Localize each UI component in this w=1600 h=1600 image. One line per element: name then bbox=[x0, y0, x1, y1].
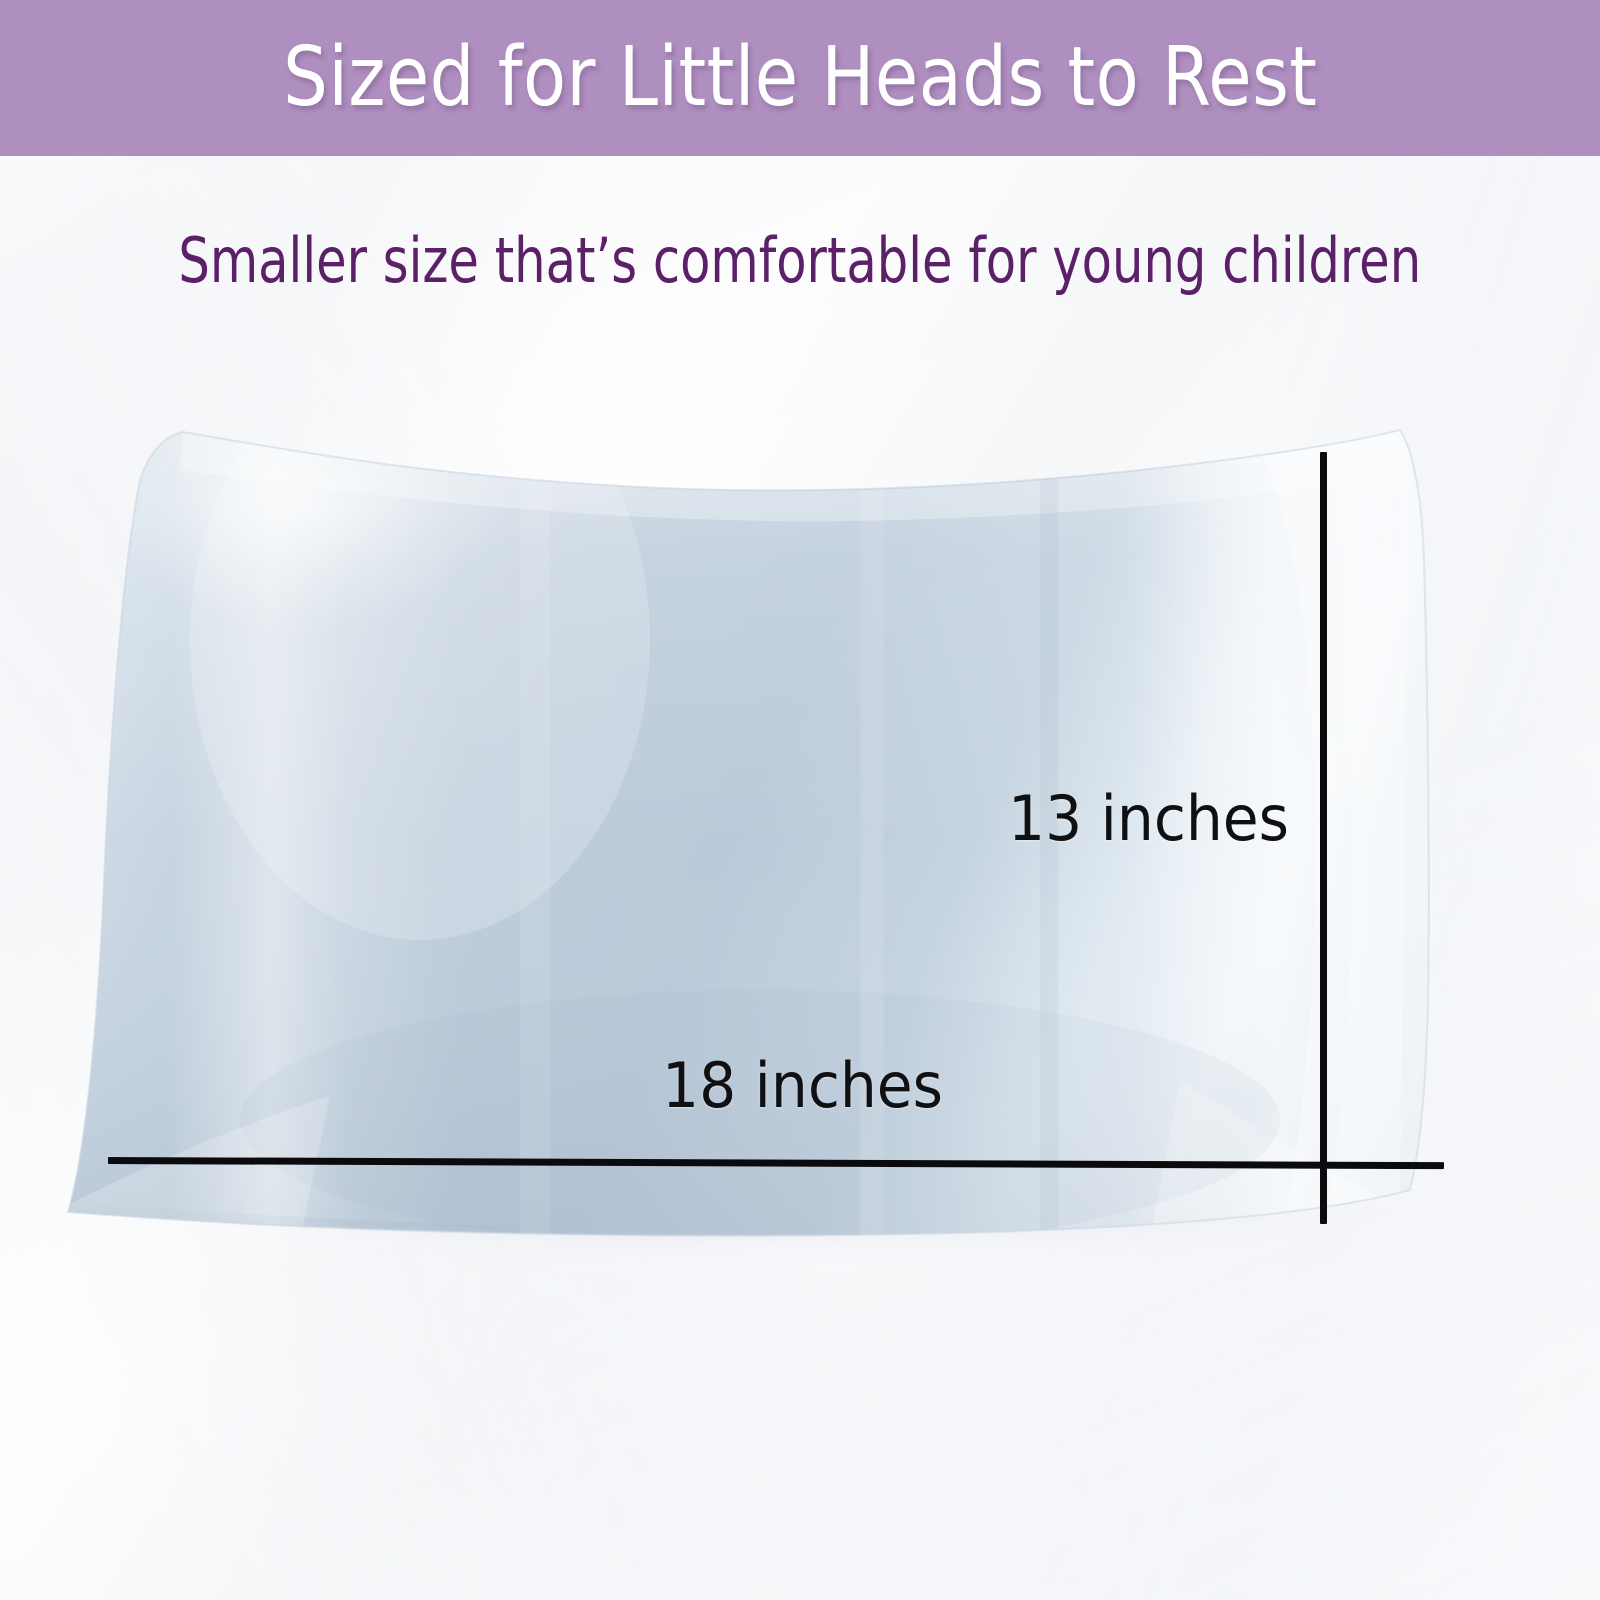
height-dimension-line bbox=[1320, 452, 1327, 1224]
pillow-illustration bbox=[0, 0, 1600, 1600]
height-dimension-label: 13 inches bbox=[1008, 788, 1307, 850]
width-dimension-label: 18 inches bbox=[662, 1055, 961, 1117]
infographic-page: Sized for Little Heads to Rest Smaller s… bbox=[0, 0, 1600, 1600]
height-dimension-text: 13 inches bbox=[1008, 788, 1289, 850]
width-dimension-text: 18 inches bbox=[662, 1055, 943, 1117]
product-image bbox=[0, 0, 1600, 1600]
